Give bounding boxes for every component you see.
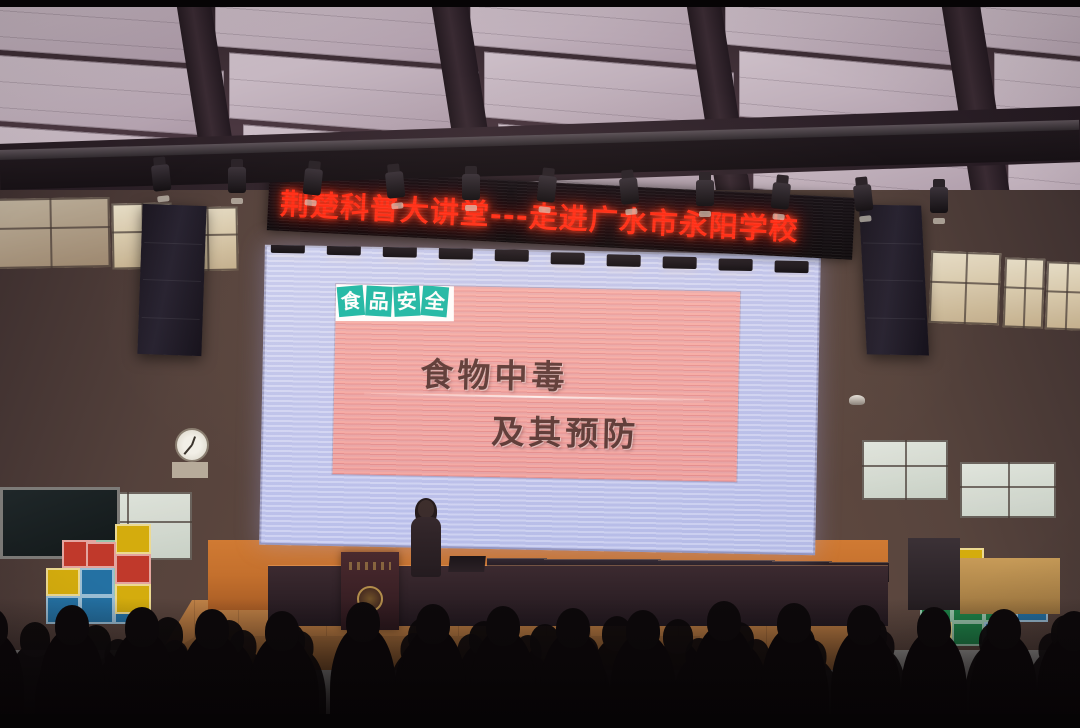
downlight bbox=[439, 247, 473, 260]
moving-head-light bbox=[462, 166, 480, 208]
storage-cube bbox=[115, 524, 151, 554]
audience-head bbox=[486, 606, 520, 646]
audience-head bbox=[55, 605, 89, 645]
presenter bbox=[409, 500, 443, 580]
audience-head bbox=[777, 603, 811, 643]
window bbox=[862, 440, 948, 500]
student-audience bbox=[0, 598, 1080, 728]
led-display-screen: 食 品 安 全 食物中毒 及其预防 bbox=[259, 245, 821, 556]
audience-head bbox=[1057, 611, 1080, 651]
audience-head bbox=[663, 619, 693, 654]
downlight bbox=[663, 256, 697, 269]
window bbox=[1045, 261, 1080, 330]
laptop bbox=[448, 556, 486, 572]
audience-head bbox=[125, 607, 159, 647]
badge-tile: 品 bbox=[365, 285, 393, 316]
badge-tile: 安 bbox=[393, 286, 420, 317]
podium-nameplate bbox=[349, 562, 391, 570]
moving-head-light bbox=[930, 179, 948, 221]
window bbox=[929, 251, 1001, 325]
audience-head bbox=[195, 609, 229, 649]
dome-camera-right bbox=[849, 395, 865, 405]
moving-head-light bbox=[228, 159, 246, 201]
slide-title-line-1: 食物中毒 bbox=[420, 348, 569, 399]
downlight bbox=[327, 245, 361, 256]
letterbox-top bbox=[0, 0, 1080, 7]
window bbox=[960, 462, 1056, 518]
downlight bbox=[607, 254, 641, 267]
audience-head bbox=[416, 604, 450, 644]
badge-tile: 全 bbox=[421, 285, 450, 317]
audience-head bbox=[265, 611, 299, 651]
presenter-head bbox=[418, 500, 434, 518]
downlight bbox=[383, 245, 417, 258]
downlight bbox=[495, 249, 529, 262]
audience-member bbox=[330, 626, 396, 728]
storage-cube bbox=[80, 568, 114, 596]
presentation-slide: 食 品 安 全 食物中毒 及其预防 bbox=[333, 284, 741, 482]
audience-head bbox=[626, 610, 660, 650]
food-safety-badge: 食 品 安 全 bbox=[333, 284, 454, 321]
storage-cube bbox=[86, 542, 116, 568]
storage-cube bbox=[115, 554, 151, 584]
downlight bbox=[551, 252, 585, 265]
audience-head bbox=[987, 609, 1021, 649]
presenter-body bbox=[411, 517, 441, 577]
audience-head bbox=[707, 601, 741, 641]
downlight bbox=[271, 245, 305, 254]
downlight bbox=[719, 258, 753, 271]
audience-head bbox=[917, 607, 951, 647]
wall-clock bbox=[175, 428, 209, 462]
downlight bbox=[774, 260, 808, 273]
badge-tile: 食 bbox=[337, 285, 365, 317]
line-array-speaker-right bbox=[859, 205, 929, 356]
audience-head bbox=[556, 608, 590, 648]
slide-title-line-2: 及其预防 bbox=[491, 405, 640, 456]
window bbox=[0, 197, 111, 269]
wall-plaque bbox=[172, 462, 208, 478]
audience-head bbox=[346, 602, 380, 642]
audience-member bbox=[400, 628, 466, 728]
letterbox-bottom bbox=[0, 714, 1080, 728]
audience-head bbox=[847, 605, 881, 645]
storage-cube bbox=[46, 568, 80, 596]
window bbox=[1003, 257, 1045, 328]
line-array-speaker-left bbox=[137, 204, 206, 356]
audience-head bbox=[0, 608, 8, 648]
moving-head-light bbox=[696, 172, 714, 214]
auditorium-photo: 荆楚科普大讲堂---走进广水市永阳学校 食 品 安 全 食物中毒 及其预防 bbox=[0, 0, 1080, 728]
